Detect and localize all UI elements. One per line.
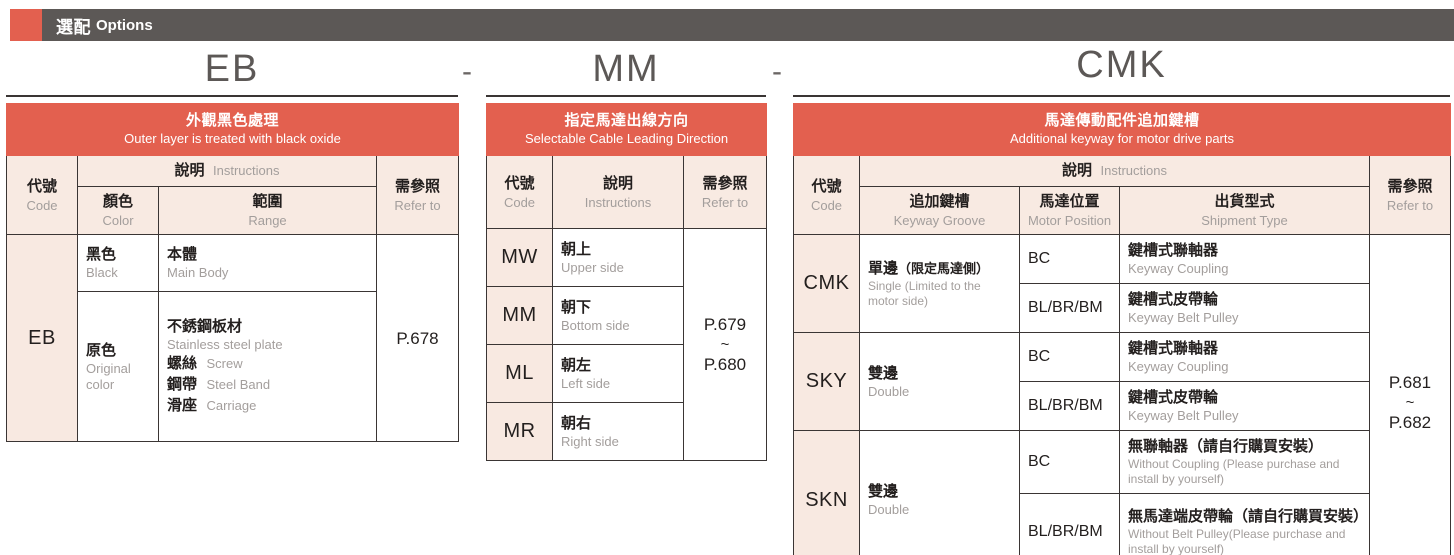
band-header-mm: 指定馬達出線方向 Selectable Cable Leading Direct… bbox=[487, 104, 767, 156]
cell-code-skn: SKN bbox=[794, 431, 860, 555]
shipment-cn: 鍵槽式皮帶輪 bbox=[1128, 290, 1361, 310]
table-row: 指定馬達出線方向 Selectable Cable Leading Direct… bbox=[487, 104, 767, 156]
range-item-en: Steel Band bbox=[206, 377, 270, 392]
shipment-cn: 鍵槽式皮帶輪 bbox=[1128, 388, 1361, 408]
shipment-en: Without Coupling (Please purchase and in… bbox=[1128, 457, 1361, 487]
col-header-instructions: 說明 Instructions bbox=[553, 156, 684, 229]
table-row: 代號 Code 說明 Instructions 需參照 Refer to bbox=[794, 156, 1451, 187]
range-item-en: Screw bbox=[206, 356, 242, 371]
col-header-motor-position: 馬達位置 Motor Position bbox=[1020, 187, 1120, 235]
col-header-shipment-en: Shipment Type bbox=[1123, 212, 1366, 229]
page-title-en: Options bbox=[96, 17, 153, 34]
cell-instruction-mm: 朝下 Bottom side bbox=[553, 287, 684, 345]
table-cmk: 馬達傳動配件追加鍵槽 Additional keyway for motor d… bbox=[793, 103, 1451, 555]
cell-motor-position: BC bbox=[1020, 235, 1120, 284]
band-title-en: Outer layer is treated with black oxide bbox=[11, 130, 454, 147]
cell-code-sky: SKY bbox=[794, 333, 860, 431]
col-header-refer: 需參照 Refer to bbox=[377, 156, 459, 235]
col-header-range: 範圍 Range bbox=[159, 187, 377, 235]
band-title-cn: 指定馬達出線方向 bbox=[491, 111, 762, 130]
table-row: SKN 雙邊 Double BC 無聯軸器（請自行購買安裝） Without C… bbox=[794, 431, 1451, 494]
col-header-motor-position-cn: 馬達位置 bbox=[1023, 192, 1116, 212]
cell-code-ml: ML bbox=[487, 345, 553, 403]
col-header-code-en: Code bbox=[10, 197, 74, 214]
cell-keyway-sky: 雙邊 Double bbox=[860, 333, 1020, 431]
col-header-range-en: Range bbox=[162, 212, 373, 229]
col-header-refer: 需參照 Refer to bbox=[1370, 156, 1451, 235]
keyway-cn: 單邊 bbox=[868, 260, 898, 277]
shipment-cn: 鍵槽式聯軸器 bbox=[1128, 241, 1361, 261]
range-item-cn: 本體 bbox=[167, 245, 368, 265]
table-eb: 外觀黑色處理 Outer layer is treated with black… bbox=[6, 103, 459, 442]
col-header-shipment-cn: 出貨型式 bbox=[1123, 192, 1366, 212]
cell-code-cmk: CMK bbox=[794, 235, 860, 333]
cell-refer-eb: P.678 bbox=[377, 235, 459, 442]
col-header-code-cn: 代號 bbox=[490, 174, 549, 194]
range-item-cn: 滑座 bbox=[167, 397, 197, 414]
col-header-code: 代號 Code bbox=[794, 156, 860, 235]
col-header-keyway: 追加鍵槽 Keyway Groove bbox=[860, 187, 1020, 235]
col-header-instructions-cn: 說明 bbox=[1062, 162, 1092, 179]
cell-instruction-mr: 朝右 Right side bbox=[553, 403, 684, 461]
refer-tilde: ~ bbox=[684, 336, 766, 353]
cell-code-mw: MW bbox=[487, 229, 553, 287]
col-header-instructions-cn: 說明 bbox=[175, 162, 205, 179]
col-header-code-cn: 代號 bbox=[797, 177, 856, 197]
cell-code-mr: MR bbox=[487, 403, 553, 461]
cell-motor-position: BL/BR/BM bbox=[1020, 382, 1120, 431]
band-header-eb: 外觀黑色處理 Outer layer is treated with black… bbox=[7, 104, 459, 156]
separator-dash-2: - bbox=[772, 62, 782, 82]
col-header-code-en: Code bbox=[490, 194, 549, 211]
cell-range-black: 本體 Main Body bbox=[159, 235, 377, 292]
col-header-code: 代號 Code bbox=[487, 156, 553, 229]
col-header-code-cn: 代號 bbox=[10, 177, 74, 197]
table-row: EB 黑色 Black 本體 Main Body P.678 bbox=[7, 235, 459, 292]
keyway-en: Double bbox=[868, 502, 1011, 518]
col-header-refer: 需參照 Refer to bbox=[684, 156, 767, 229]
cell-shipment: 鍵槽式聯軸器 Keyway Coupling bbox=[1120, 235, 1370, 284]
refer-page-start: P.681 bbox=[1389, 373, 1431, 392]
band-title-cn: 外觀黑色處理 bbox=[11, 111, 454, 130]
keyway-cn: 雙邊 bbox=[868, 364, 1011, 384]
col-header-color-en: Color bbox=[81, 212, 155, 229]
table-row: 馬達傳動配件追加鍵槽 Additional keyway for motor d… bbox=[794, 104, 1451, 156]
shipment-cn: 無聯軸器（請自行購買安裝） bbox=[1128, 437, 1361, 457]
cell-refer-mm: P.679 ~ P.680 bbox=[684, 229, 767, 461]
col-header-keyway-en: Keyway Groove bbox=[863, 212, 1016, 229]
table-row: SKY 雙邊 Double BC 鍵槽式聯軸器 Keyway Coupling bbox=[794, 333, 1451, 382]
range-item-cn: 螺絲 bbox=[167, 355, 197, 372]
col-header-color-cn: 顏色 bbox=[81, 192, 155, 212]
section-code-cmk: CMK bbox=[793, 42, 1450, 88]
shipment-en: Without Belt Pulley(Please purchase and … bbox=[1128, 527, 1361, 555]
shipment-en: Keyway Coupling bbox=[1128, 261, 1361, 277]
col-header-instructions-en: Instructions bbox=[1100, 163, 1166, 178]
band-title-en: Selectable Cable Leading Direction bbox=[491, 130, 762, 147]
keyway-paren: （限定馬達側） bbox=[898, 261, 989, 276]
section-rule-cmk bbox=[793, 95, 1450, 97]
col-header-shipment: 出貨型式 Shipment Type bbox=[1120, 187, 1370, 235]
range-item-en: Main Body bbox=[167, 265, 368, 281]
col-header-instructions-cn: 說明 bbox=[556, 174, 680, 194]
col-header-refer-en: Refer to bbox=[380, 197, 455, 214]
cell-motor-position: BC bbox=[1020, 431, 1120, 494]
col-header-instructions: 說明 Instructions bbox=[860, 156, 1370, 187]
instruction-en: Left side bbox=[561, 376, 675, 392]
col-header-instructions-en: Instructions bbox=[556, 194, 680, 211]
section-code-mm: MM bbox=[486, 46, 766, 92]
header-title-strip: 選配 Options bbox=[42, 9, 1454, 41]
shipment-en: Keyway Belt Pulley bbox=[1128, 310, 1361, 326]
col-header-keyway-cn: 追加鍵槽 bbox=[863, 192, 1016, 212]
cell-shipment: 鍵槽式聯軸器 Keyway Coupling bbox=[1120, 333, 1370, 382]
table-mm: 指定馬達出線方向 Selectable Cable Leading Direct… bbox=[486, 103, 767, 461]
shipment-cn: 無馬達端皮帶輪（請自行購買安裝） bbox=[1128, 507, 1361, 527]
cell-shipment: 鍵槽式皮帶輪 Keyway Belt Pulley bbox=[1120, 284, 1370, 333]
table-row: 代號 Code 說明 Instructions 需參照 Refer to bbox=[487, 156, 767, 229]
range-item: 滑座 Carriage bbox=[167, 396, 368, 416]
cell-motor-position: BL/BR/BM bbox=[1020, 284, 1120, 333]
cell-refer-cmk: P.681 ~ P.682 bbox=[1370, 235, 1451, 555]
refer-page-end: P.680 bbox=[704, 355, 746, 374]
cell-shipment: 無馬達端皮帶輪（請自行購買安裝） Without Belt Pulley(Ple… bbox=[1120, 494, 1370, 555]
cell-instruction-ml: 朝左 Left side bbox=[553, 345, 684, 403]
band-title-en: Additional keyway for motor drive parts bbox=[798, 130, 1446, 147]
col-header-instructions: 說明 Instructions bbox=[78, 156, 377, 187]
cell-shipment: 無聯軸器（請自行購買安裝） Without Coupling (Please p… bbox=[1120, 431, 1370, 494]
cell-color-original: 原色 Original color bbox=[78, 292, 159, 442]
color-name-en: Black bbox=[86, 265, 150, 281]
color-name-cn: 黑色 bbox=[86, 245, 150, 265]
col-header-code: 代號 Code bbox=[7, 156, 78, 235]
separator-dash-1: - bbox=[462, 62, 472, 82]
instruction-cn: 朝下 bbox=[561, 298, 675, 318]
instruction-cn: 朝右 bbox=[561, 414, 675, 434]
keyway-cn: 雙邊 bbox=[868, 482, 1011, 502]
page-header-bar: 選配 Options bbox=[10, 9, 1454, 41]
cell-range-original: 不銹鋼板材 Stainless steel plate 螺絲 Screw 鋼帶 … bbox=[159, 292, 377, 442]
color-name-cn: 原色 bbox=[86, 341, 150, 361]
col-header-code-en: Code bbox=[797, 197, 856, 214]
instruction-en: Upper side bbox=[561, 260, 675, 276]
col-header-refer-en: Refer to bbox=[1373, 197, 1447, 214]
table-row: 外觀黑色處理 Outer layer is treated with black… bbox=[7, 104, 459, 156]
instruction-en: Bottom side bbox=[561, 318, 675, 334]
band-header-cmk: 馬達傳動配件追加鍵槽 Additional keyway for motor d… bbox=[794, 104, 1451, 156]
instruction-cn: 朝左 bbox=[561, 356, 675, 376]
refer-page-end: P.682 bbox=[1389, 413, 1431, 432]
section-code-eb: EB bbox=[6, 46, 458, 92]
range-item: 不銹鋼板材 Stainless steel plate bbox=[167, 317, 368, 353]
options-specification-page: 選配 Options EB - MM - CMK 外觀黑色處理 Outer la… bbox=[0, 0, 1454, 555]
instruction-cn: 朝上 bbox=[561, 240, 675, 260]
range-item-cn: 不銹鋼板材 bbox=[167, 317, 368, 337]
shipment-en: Keyway Belt Pulley bbox=[1128, 408, 1361, 424]
band-title-cn: 馬達傳動配件追加鍵槽 bbox=[798, 111, 1446, 130]
section-rule-mm bbox=[486, 95, 766, 97]
cell-code-eb: EB bbox=[7, 235, 78, 442]
range-item-en: Stainless steel plate bbox=[167, 337, 368, 353]
refer-tilde: ~ bbox=[1370, 394, 1450, 411]
keyway-en: Single (Limited to the motor side) bbox=[868, 279, 1011, 309]
table-row: 追加鍵槽 Keyway Groove 馬達位置 Motor Position 出… bbox=[794, 187, 1451, 235]
refer-page-start: P.679 bbox=[704, 315, 746, 334]
cell-keyway-skn: 雙邊 Double bbox=[860, 431, 1020, 555]
col-header-refer-cn: 需參照 bbox=[687, 174, 763, 194]
shipment-cn: 鍵槽式聯軸器 bbox=[1128, 339, 1361, 359]
cell-motor-position: BL/BR/BM bbox=[1020, 494, 1120, 555]
color-name-en: Original color bbox=[86, 361, 150, 393]
shipment-en: Keyway Coupling bbox=[1128, 359, 1361, 375]
cell-shipment: 鍵槽式皮帶輪 Keyway Belt Pulley bbox=[1120, 382, 1370, 431]
range-item-cn: 鋼帶 bbox=[167, 376, 197, 393]
table-row: CMK 單邊（限定馬達側） Single (Limited to the mot… bbox=[794, 235, 1451, 284]
range-item: 螺絲 Screw bbox=[167, 354, 368, 374]
cell-keyway-cmk: 單邊（限定馬達側） Single (Limited to the motor s… bbox=[860, 235, 1020, 333]
section-rule-eb bbox=[6, 95, 458, 97]
keyway-en: Double bbox=[868, 384, 1011, 400]
col-header-motor-position-en: Motor Position bbox=[1023, 212, 1116, 229]
instruction-en: Right side bbox=[561, 434, 675, 450]
cell-code-mm: MM bbox=[487, 287, 553, 345]
col-header-refer-cn: 需參照 bbox=[380, 177, 455, 197]
col-header-refer-en: Refer to bbox=[687, 194, 763, 211]
range-item-en: Carriage bbox=[206, 398, 256, 413]
col-header-range-cn: 範圍 bbox=[162, 192, 373, 212]
range-item: 鋼帶 Steel Band bbox=[167, 375, 368, 395]
cell-motor-position: BC bbox=[1020, 333, 1120, 382]
cell-color-black: 黑色 Black bbox=[78, 235, 159, 292]
table-row: MW 朝上 Upper side P.679 ~ P.680 bbox=[487, 229, 767, 287]
page-title-cn: 選配 bbox=[56, 13, 91, 38]
cell-instruction-mw: 朝上 Upper side bbox=[553, 229, 684, 287]
header-accent-square bbox=[10, 9, 42, 41]
table-row: 代號 Code 說明 Instructions 需參照 Refer to bbox=[7, 156, 459, 187]
col-header-refer-cn: 需參照 bbox=[1373, 177, 1447, 197]
col-header-color: 顏色 Color bbox=[78, 187, 159, 235]
col-header-instructions-en: Instructions bbox=[213, 163, 279, 178]
